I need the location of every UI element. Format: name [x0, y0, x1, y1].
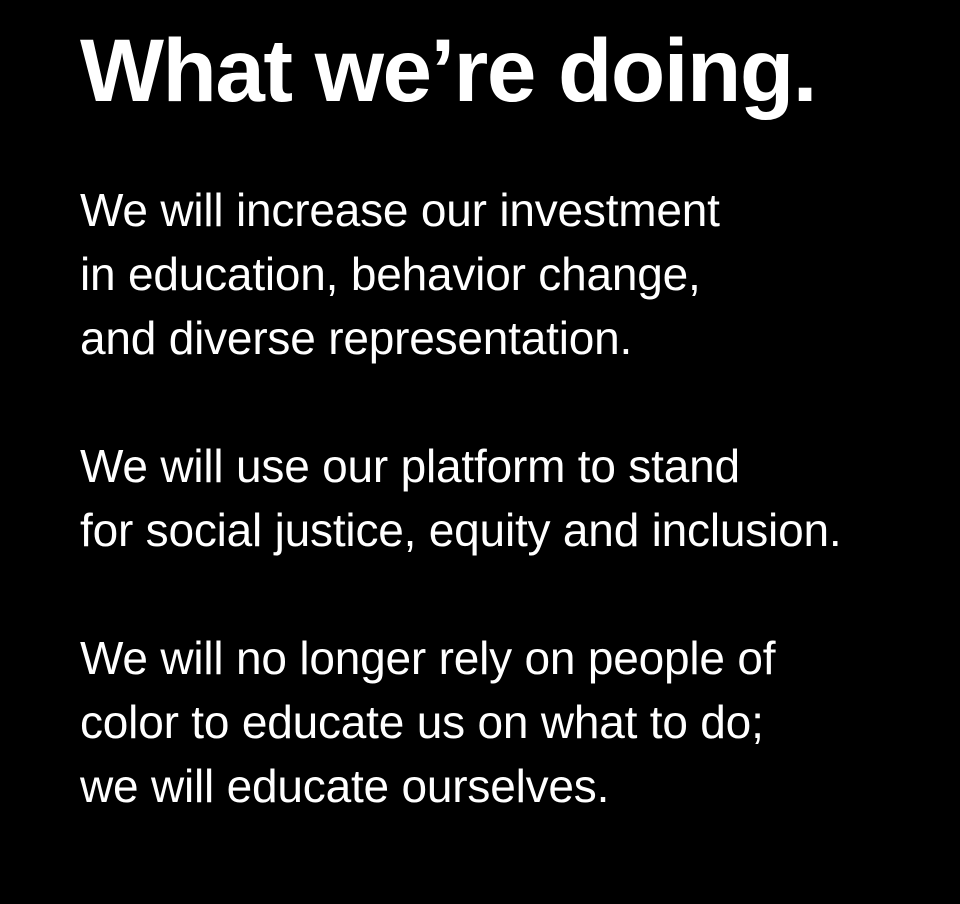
page-title: What we’re doing. — [80, 24, 816, 117]
statement-line: We will use our platform to stand — [80, 434, 940, 498]
statement-line: we will educate ourselves. — [80, 754, 940, 818]
statement-line: and diverse representation. — [80, 306, 940, 370]
statement-line: color to educate us on what to do; — [80, 690, 940, 754]
statement-paragraph: We will use our platform to stand for so… — [80, 434, 940, 562]
statement-line: We will increase our investment — [80, 178, 940, 242]
statement-content: What we’re doing. We will increase our i… — [80, 0, 940, 904]
statement-paragraph: We will increase our investment in educa… — [80, 178, 940, 370]
statement-line: We will no longer rely on people of — [80, 626, 940, 690]
statement-paragraph: We will no longer rely on people of colo… — [80, 626, 940, 818]
statement-line: in education, behavior change, — [80, 242, 940, 306]
statement-graphic: What we’re doing. We will increase our i… — [0, 0, 960, 904]
statement-body: We will increase our investment in educa… — [80, 178, 940, 818]
statement-line: for social justice, equity and inclusion… — [80, 498, 940, 562]
